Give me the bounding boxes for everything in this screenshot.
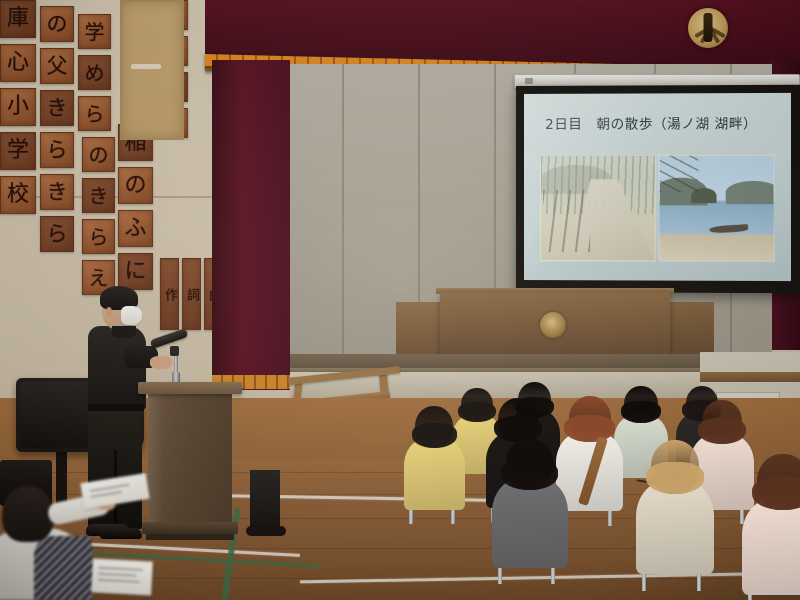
calligraphy-plaque: の [118, 167, 153, 204]
foreground-attendee-head [2, 486, 54, 542]
calligraphy-plaque: 小 [0, 88, 36, 126]
presenter-ear [106, 307, 112, 316]
projection-screen-surface: 2日目 朝の散歩（湯ノ湖 湖畔） [524, 93, 791, 281]
slide-photo-lake [658, 155, 775, 262]
foreground-attendee-vest [34, 536, 92, 600]
wall-notice-board [120, 0, 184, 140]
notice-board-slot [131, 64, 161, 69]
presentation-slide: 2日目 朝の散歩（湯ノ湖 湖畔） [524, 93, 791, 281]
presenter-face-mask [121, 306, 142, 325]
calligraphy-plaque: に [118, 253, 153, 290]
calligraphy-plaque: ら [82, 219, 115, 254]
slide-title: 2日目 朝の散歩（湯ノ湖 湖畔） [545, 112, 757, 133]
calligraphy-plaque: 校 [0, 176, 36, 214]
calligraphy-plaque: き [40, 90, 74, 126]
calligraphy-plaque: め [78, 55, 111, 90]
school-crest-icon [688, 8, 728, 48]
calligraphy-plaque: き [40, 174, 74, 210]
calligraphy-plaque: の [82, 137, 115, 172]
calligraphy-side-strip: 作 [160, 258, 179, 330]
audience-beige-cardigan [636, 440, 714, 574]
screen-mount-bracket [525, 78, 533, 84]
audience-gray-top [492, 438, 568, 568]
calligraphy-plaque: き [82, 178, 115, 213]
stage-cabinet-right-wing [668, 302, 714, 356]
calligraphy-side-strip: 詞 [182, 258, 201, 330]
handout-paper-2 [91, 558, 153, 595]
photo-scene: 庫心小学校の父きらきら学めらのきらえ稲のふに小学校歌作詞曲 2日目 朝の散歩（湯… [0, 0, 800, 600]
presenter-collar [112, 326, 136, 338]
calligraphy-plaque: ら [78, 96, 111, 131]
presenter-hand [150, 356, 172, 369]
audience-pink-top [742, 454, 800, 595]
handout-paper [80, 473, 149, 509]
stage-cabinet-left-wing [396, 302, 442, 356]
calligraphy-plaque: ら [40, 132, 74, 168]
calligraphy-plaque: 心 [0, 44, 36, 82]
projection-screen: 2日目 朝の散歩（湯ノ湖 湖畔） [516, 85, 800, 294]
slide-photo-row [540, 155, 775, 262]
audience-yellow-top [404, 406, 465, 511]
calligraphy-plaque: 学 [78, 14, 111, 49]
calligraphy-plaque: ふ [118, 210, 153, 247]
slide-photo-forest-path [540, 155, 655, 262]
stage-curtain-side-panel [212, 60, 290, 390]
calligraphy-plaque: 庫 [0, 0, 36, 38]
calligraphy-plaque: 学 [0, 132, 36, 170]
calligraphy-plaque: の [40, 6, 74, 42]
calligraphy-plaque: ら [40, 216, 74, 252]
calligraphy-plaque: 父 [40, 48, 74, 84]
cabinet-emblem-icon [540, 312, 566, 338]
microphone-joint [170, 346, 179, 356]
foreground-attendee [0, 460, 170, 600]
